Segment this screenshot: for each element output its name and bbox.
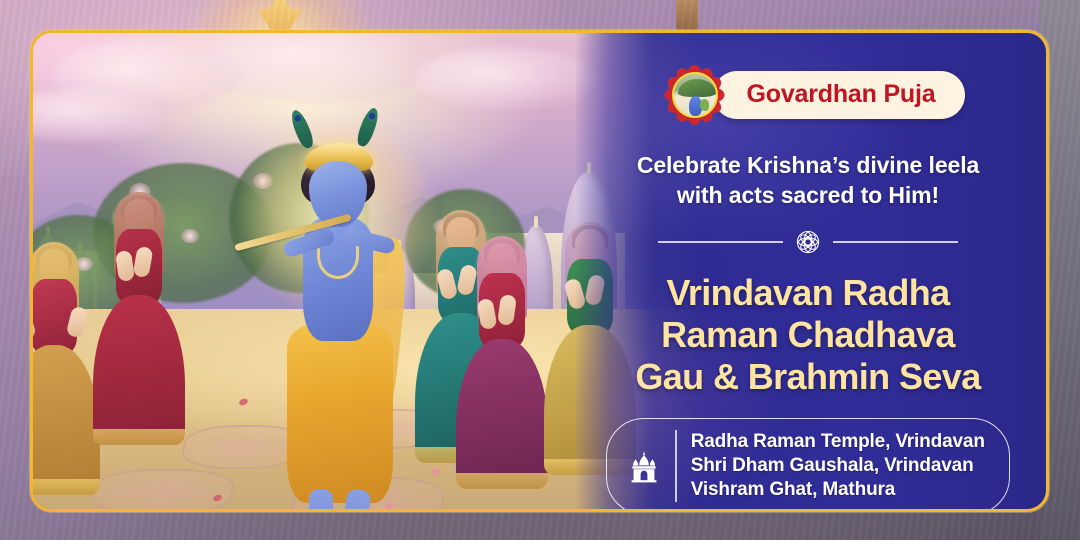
ornamental-divider <box>658 228 958 256</box>
venue-item: Vishram Ghat, Mathura <box>691 478 985 502</box>
headline-line-3: Gau & Brahmin Seva <box>635 356 980 398</box>
headline-line-2: Raman Chadhava <box>635 314 980 356</box>
venue-divider <box>675 430 677 502</box>
venue-item: Shri Dham Gaushala, Vrindavan <box>691 454 985 478</box>
govardhan-puja-banner: Govardhan Puja Celebrate Krishna’s divin… <box>0 0 1080 540</box>
subtitle: Celebrate Krishna’s divine leela with ac… <box>637 151 979 211</box>
headline-line-1: Vrindavan Radha <box>635 272 980 314</box>
gopi-figure <box>85 199 193 512</box>
subtitle-line-1: Celebrate Krishna’s divine leela <box>637 151 979 181</box>
cloud-decor <box>413 47 603 111</box>
venue-item: Radha Raman Temple, Vrindavan <box>691 430 985 454</box>
gold-frame-border: Govardhan Puja Celebrate Krishna’s divin… <box>30 30 1049 512</box>
info-panel: Govardhan Puja Celebrate Krishna’s divin… <box>576 33 1046 509</box>
bleed-lamp-decor <box>676 0 698 34</box>
rosette-mandala-icon <box>794 228 822 256</box>
divider-line-left <box>658 241 783 243</box>
temple-icon <box>627 449 661 483</box>
badge-label: Govardhan Puja <box>713 71 966 119</box>
lotus-krishna-govardhan-icon <box>661 61 729 129</box>
subtitle-line-2: with acts sacred to Him! <box>637 181 979 211</box>
krishna-figure <box>265 117 415 512</box>
page-title: Vrindavan Radha Raman Chadhava Gau & Bra… <box>635 272 980 398</box>
event-badge: Govardhan Puja <box>661 61 966 129</box>
venue-list: Radha Raman Temple, Vrindavan Shri Dham … <box>691 430 985 502</box>
venue-box: Radha Raman Temple, Vrindavan Shri Dham … <box>606 418 1010 512</box>
divider-line-right <box>833 241 958 243</box>
